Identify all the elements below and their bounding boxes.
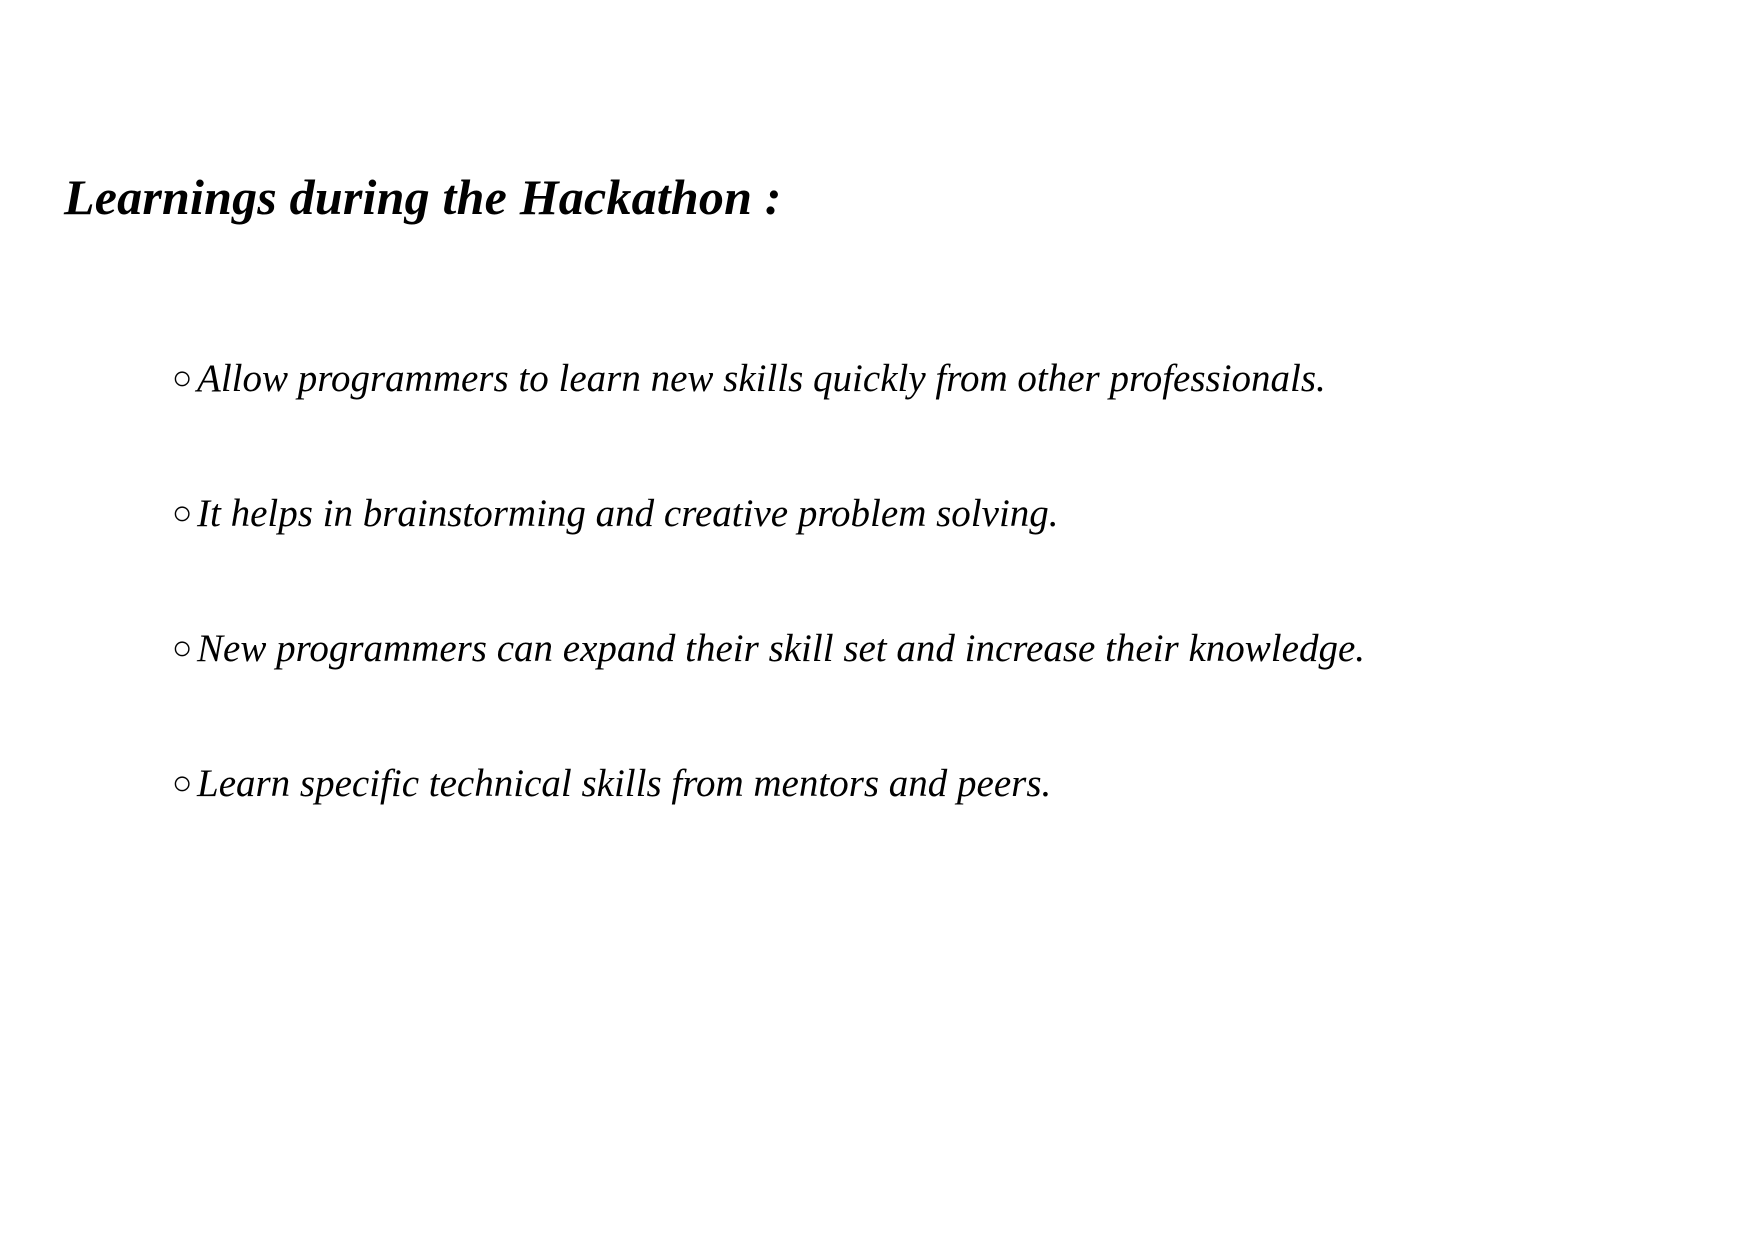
hollow-circle-bullet-icon: ○ <box>172 626 197 672</box>
list-item-label: Learn specific technical skills from men… <box>197 761 1051 807</box>
list-item-label: It helps in brainstorming and creative p… <box>197 491 1059 537</box>
presentation-slide: Learnings during the Hackathon : ○ Allow… <box>0 0 1755 1241</box>
list-item: ○ Allow programmers to learn new skills … <box>172 356 1692 491</box>
hollow-circle-bullet-icon: ○ <box>172 356 197 402</box>
page-title: Learnings during the Hackathon : <box>64 172 782 222</box>
list-item: ○ Learn specific technical skills from m… <box>172 761 1692 896</box>
list-item-label: Allow programmers to learn new skills qu… <box>197 356 1326 402</box>
list-item: ○ New programmers can expand their skill… <box>172 626 1692 761</box>
list-item-label: New programmers can expand their skill s… <box>197 626 1365 672</box>
list-item: ○ It helps in brainstorming and creative… <box>172 491 1692 626</box>
bullet-list: ○ Allow programmers to learn new skills … <box>172 356 1692 896</box>
hollow-circle-bullet-icon: ○ <box>172 491 197 537</box>
hollow-circle-bullet-icon: ○ <box>172 761 197 807</box>
